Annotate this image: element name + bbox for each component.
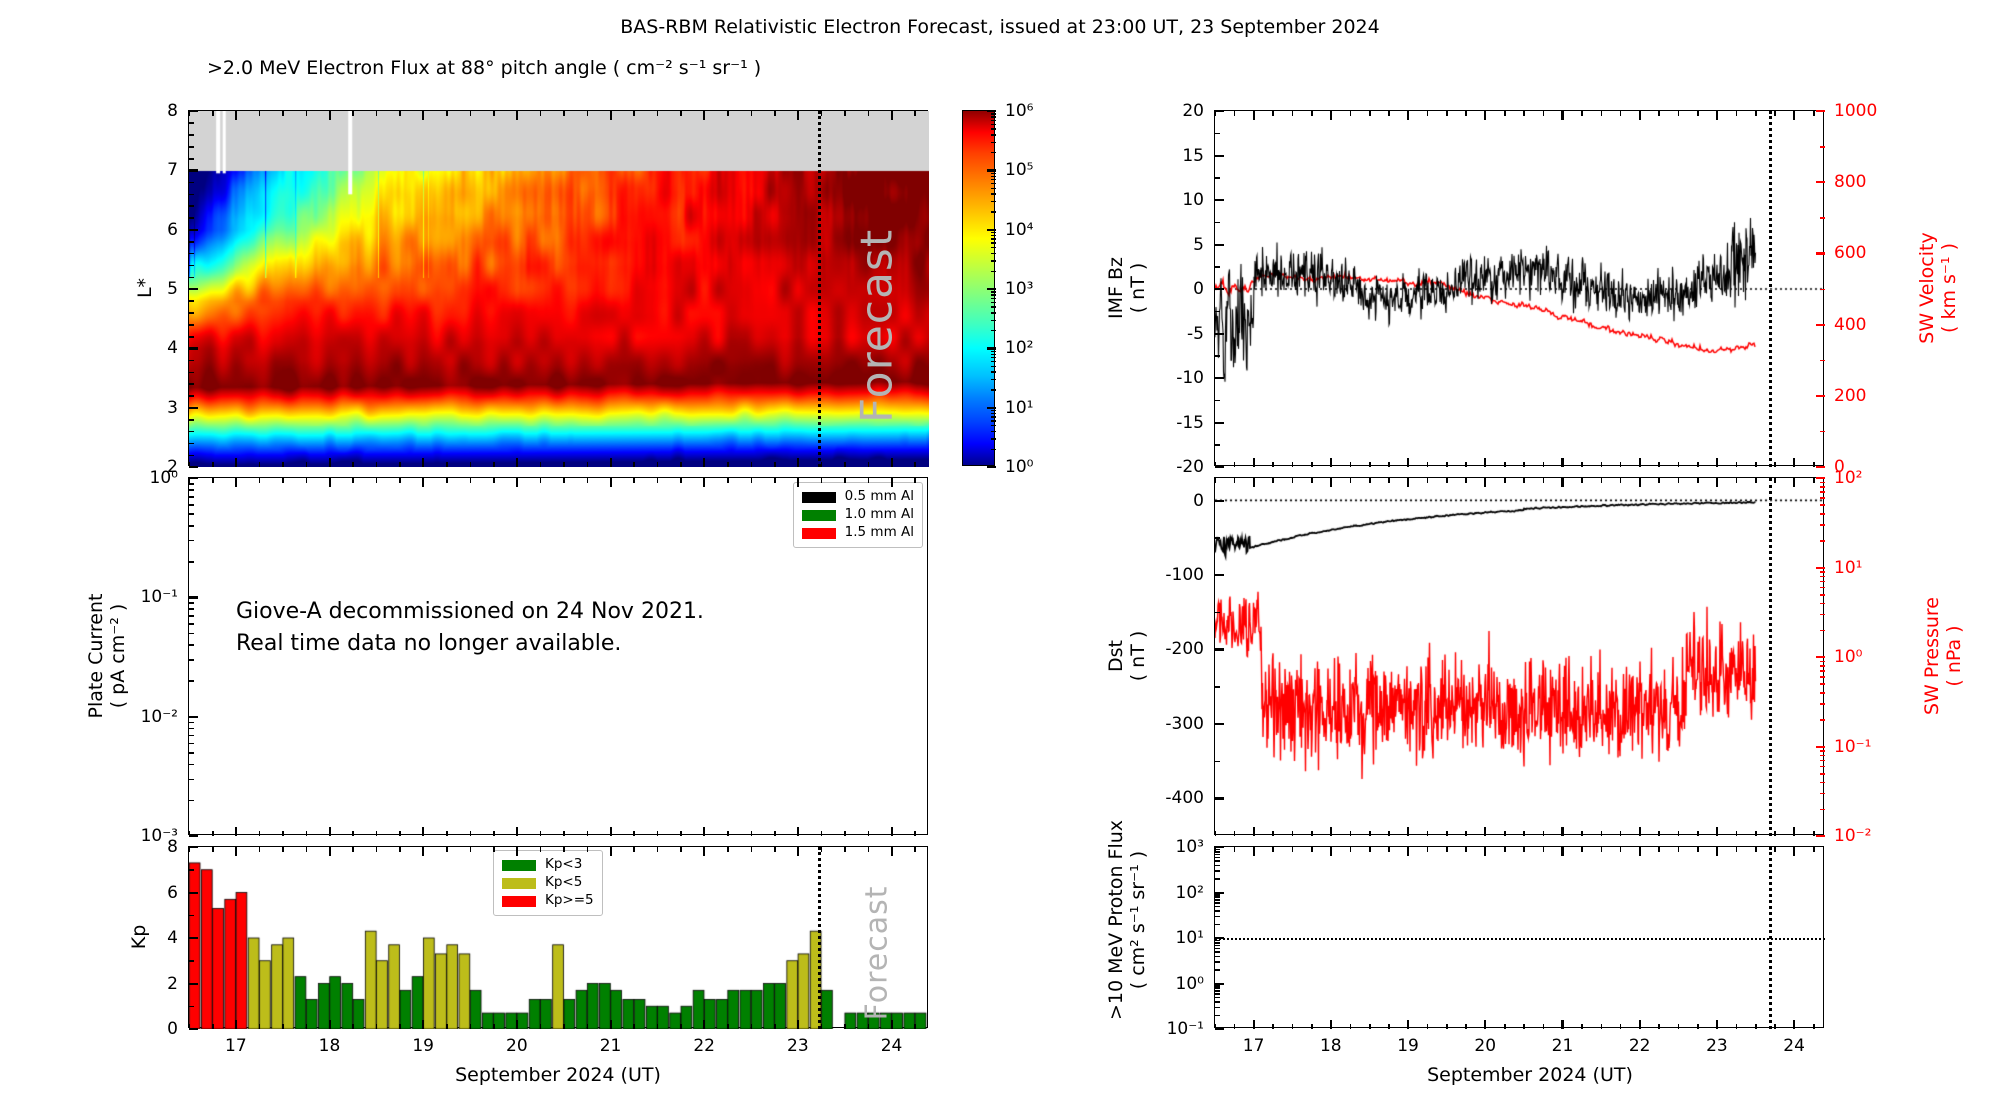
- axis-tick: [1620, 1024, 1622, 1029]
- axis-tick: [1253, 111, 1255, 116]
- axis-tick: [991, 371, 996, 372]
- axis-tick: [376, 478, 378, 483]
- axis-tick: [1813, 831, 1815, 836]
- axis-tick: [1215, 199, 1224, 201]
- axis-tick: [844, 111, 846, 116]
- axis-tick: [189, 831, 191, 836]
- dst-y-axis-label: Dst ( nT ): [1106, 631, 1150, 682]
- axis-tick: [1562, 831, 1564, 836]
- axis-tick: [189, 608, 194, 610]
- axis-tick: [1678, 111, 1680, 116]
- axis-tick: [189, 659, 194, 661]
- axis-tick: [991, 354, 996, 355]
- axis-tick: [493, 831, 495, 836]
- axis-tick: [991, 173, 996, 174]
- axis-tick: [797, 462, 799, 467]
- colorbar-tick-label: 10⁴: [1005, 220, 1033, 240]
- axis-tick: [1562, 462, 1564, 467]
- axis-tick-label: 600: [1834, 243, 1866, 263]
- kp-index-axes[interactable]: Forecast Kp<3 Kp<5 Kp>=5 024681718192021…: [188, 846, 928, 1028]
- axis-tick-label: 24: [1783, 1036, 1805, 1056]
- axis-tick: [1755, 831, 1757, 836]
- axis-tick: [306, 478, 308, 483]
- axis-tick-label: 400: [1834, 315, 1866, 335]
- axis-tick: [399, 847, 401, 852]
- axis-tick: [1311, 111, 1313, 116]
- axis-tick: [1215, 110, 1224, 112]
- electron-flux-axes[interactable]: Forecast 2345678: [188, 110, 928, 466]
- axis-tick: [914, 1024, 916, 1029]
- axis-tick: [1465, 478, 1467, 483]
- axis-tick: [1820, 692, 1825, 694]
- axis-tick: [1215, 940, 1220, 942]
- axis-tick: [189, 111, 191, 116]
- forecast-divider-dst: [1769, 478, 1772, 836]
- forecast-divider-kp: [818, 847, 821, 1029]
- axis-tick: [587, 847, 589, 852]
- axis-tick: [657, 831, 659, 836]
- legend-item: Kp<5: [502, 874, 594, 892]
- axis-tick: [259, 478, 261, 483]
- legend-label: 1.0 mm Al: [845, 508, 914, 522]
- axis-tick: [189, 288, 198, 290]
- axis-tick-label: 0: [1193, 491, 1204, 511]
- legend-item: Kp<3: [502, 856, 594, 874]
- axis-tick: [540, 462, 542, 467]
- axis-tick: [1820, 360, 1825, 362]
- axis-tick: [1215, 686, 1220, 688]
- axis-tick: [1215, 857, 1220, 859]
- axis-tick: [189, 983, 198, 985]
- axis-tick: [680, 462, 682, 467]
- axis-tick: [1736, 831, 1738, 836]
- axis-tick: [446, 478, 448, 483]
- axis-tick: [610, 831, 612, 836]
- axis-tick: [563, 847, 565, 852]
- axis-tick: [991, 193, 996, 194]
- axis-tick: [633, 462, 635, 467]
- axis-tick: [189, 496, 194, 498]
- axis-tick: [189, 110, 198, 112]
- axis-tick: [1820, 766, 1825, 768]
- axis-tick: [1678, 847, 1680, 852]
- axis-tick: [1215, 400, 1220, 402]
- axis-tick: [189, 633, 194, 635]
- proton-threshold-line: [1215, 938, 1825, 940]
- axis-tick: [1658, 111, 1660, 116]
- axis-tick: [189, 892, 198, 894]
- axis-tick: [680, 1024, 682, 1029]
- axis-tick: [1215, 244, 1224, 246]
- axis-tick: [470, 847, 472, 852]
- axis-tick: [991, 312, 996, 313]
- axis-tick: [1813, 1024, 1815, 1029]
- axis-tick: [1816, 324, 1825, 326]
- axis-tick: [751, 111, 753, 116]
- proton-flux-axes[interactable]: 10⁻¹10⁰10¹10²10³1718192021222324: [1214, 846, 1824, 1028]
- plate-current-y-axis-label: Plate Current ( pA cm⁻² ): [86, 594, 130, 719]
- axis-tick: [1820, 497, 1825, 499]
- axis-tick: [991, 120, 996, 121]
- axis-tick: [1816, 181, 1825, 183]
- axis-tick-label: 4: [167, 928, 178, 948]
- axis-tick: [914, 831, 916, 836]
- axis-tick: [1215, 942, 1220, 944]
- axis-tick: [1330, 462, 1332, 467]
- axis-tick: [1716, 831, 1718, 836]
- axis-tick: [1820, 504, 1825, 506]
- axis-tick: [470, 1024, 472, 1029]
- axis-tick: [844, 1024, 846, 1029]
- axis-tick: [727, 847, 729, 852]
- axis-tick: [1292, 111, 1294, 116]
- axis-tick: [1253, 462, 1255, 467]
- kp-legend[interactable]: Kp<3 Kp<5 Kp>=5: [493, 850, 603, 916]
- axis-tick: [1639, 847, 1641, 852]
- axis-tick: [1820, 614, 1825, 616]
- axis-tick: [991, 113, 996, 114]
- axis-tick: [1820, 661, 1825, 663]
- axis-tick: [1215, 894, 1220, 896]
- axis-tick-label: 20: [506, 1036, 528, 1056]
- axis-tick: [991, 438, 996, 439]
- axis-tick: [212, 1024, 214, 1029]
- axis-tick: [1523, 462, 1525, 467]
- axis-tick: [1601, 831, 1603, 836]
- axis-tick: [1820, 750, 1825, 752]
- axis-tick: [1716, 111, 1718, 116]
- axis-tick: [704, 462, 706, 467]
- colorbar-tick-label: 10⁵: [1005, 160, 1033, 180]
- axis-tick: [1820, 431, 1825, 433]
- plate-current-axes[interactable]: 0.5 mm Al 1.0 mm Al 1.5 mm Al Giove-A de…: [188, 477, 928, 835]
- axis-tick: [189, 504, 194, 506]
- axis-tick: [1215, 945, 1220, 947]
- axis-tick: [891, 831, 893, 836]
- axis-tick: [1215, 478, 1217, 483]
- axis-tick: [991, 183, 996, 184]
- flux-colorbar[interactable]: 10⁰10¹10²10³10⁴10⁵10⁶: [962, 110, 995, 466]
- axis-tick: [987, 347, 996, 349]
- flux-y-axis-label: L*: [135, 278, 157, 298]
- axis-tick-label: 10⁰: [150, 468, 178, 488]
- axis-tick: [868, 831, 870, 836]
- axis-tick: [1820, 524, 1825, 526]
- axis-tick: [189, 915, 194, 917]
- axis-tick: [1736, 478, 1738, 483]
- axis-tick: [991, 351, 996, 352]
- axis-tick: [1408, 462, 1410, 467]
- axis-tick: [1215, 899, 1220, 901]
- axis-tick: [914, 462, 916, 467]
- axis-tick: [991, 211, 996, 212]
- axis-tick: [189, 477, 198, 479]
- axis-tick: [587, 462, 589, 467]
- axis-tick: [1697, 831, 1699, 836]
- axis-tick: [235, 847, 237, 852]
- axis-tick: [1253, 478, 1255, 483]
- axis-tick: [991, 124, 996, 125]
- axis-tick: [991, 271, 996, 272]
- kp-y-axis-label: Kp: [129, 925, 151, 950]
- axis-tick: [1794, 831, 1796, 836]
- axis-tick-label: 21: [600, 1036, 622, 1056]
- axis-tick: [751, 462, 753, 467]
- axis-tick: [751, 1024, 753, 1029]
- axis-tick: [1601, 478, 1603, 483]
- axis-tick: [1485, 462, 1487, 467]
- legend-label: 1.5 mm Al: [845, 526, 914, 540]
- axis-tick: [1272, 847, 1274, 852]
- axis-tick: [189, 277, 194, 279]
- axis-tick: [235, 111, 237, 116]
- axis-tick: [1820, 571, 1825, 573]
- axis-tick: [1543, 478, 1545, 483]
- axis-tick: [1408, 1024, 1410, 1029]
- axis-tick: [1215, 537, 1220, 539]
- axis-tick: [633, 111, 635, 116]
- axis-tick: [704, 847, 706, 852]
- axis-tick: [189, 960, 194, 962]
- legend-label: Kp>=5: [545, 894, 594, 908]
- axis-tick: [1820, 603, 1825, 605]
- axis-tick: [189, 869, 194, 871]
- axis-tick: [1816, 466, 1825, 468]
- axis-tick: [189, 372, 194, 374]
- axis-tick-label: -100: [1165, 565, 1204, 585]
- axis-tick: [1562, 111, 1564, 116]
- axis-tick: [1215, 133, 1220, 135]
- axis-tick: [1330, 831, 1332, 836]
- axis-tick: [587, 478, 589, 483]
- axis-tick: [1215, 266, 1220, 268]
- axis-tick: [633, 831, 635, 836]
- axis-tick-label: -5: [1187, 324, 1204, 344]
- axis-tick: [1794, 478, 1796, 483]
- axis-tick: [1816, 110, 1825, 112]
- axis-tick: [1774, 1024, 1776, 1029]
- axis-tick: [516, 462, 518, 467]
- axis-tick-label: 1000: [1834, 101, 1877, 121]
- axis-tick: [329, 1024, 331, 1029]
- axis-tick: [1639, 462, 1641, 467]
- axis-tick: [844, 831, 846, 836]
- axis-tick-label: 21: [1552, 1036, 1574, 1056]
- imf-bz-y-axis-label: IMF Bz ( nT ): [1106, 257, 1150, 319]
- axis-tick-label: 10⁻¹: [1834, 737, 1871, 757]
- axis-tick: [306, 831, 308, 836]
- axis-tick: [633, 478, 635, 483]
- axis-tick: [493, 478, 495, 483]
- axis-tick: [1215, 987, 1220, 989]
- axis-tick: [189, 835, 198, 837]
- axis-tick: [774, 478, 776, 483]
- axis-tick: [1523, 111, 1525, 116]
- axis-tick: [868, 847, 870, 852]
- axis-tick: [1465, 847, 1467, 852]
- axis-tick: [1292, 831, 1294, 836]
- colorbar-tick-label: 10²: [1005, 338, 1033, 358]
- legend-swatch-1.0mm: [802, 510, 836, 521]
- axis-tick: [1272, 1024, 1274, 1029]
- forecast-divider-bz: [1769, 111, 1772, 467]
- axis-tick: [1215, 948, 1220, 950]
- axis-tick: [1234, 831, 1236, 836]
- axis-tick: [821, 478, 823, 483]
- axis-tick-label: 23: [1706, 1036, 1728, 1056]
- axis-tick: [1601, 1024, 1603, 1029]
- axis-tick: [1820, 703, 1825, 705]
- axis-tick: [1215, 854, 1220, 856]
- axis-tick: [1697, 111, 1699, 116]
- axis-tick: [1678, 831, 1680, 836]
- axis-tick: [470, 831, 472, 836]
- axis-tick: [189, 431, 194, 433]
- axis-tick: [1581, 462, 1583, 467]
- axis-tick-label: 800: [1834, 172, 1866, 192]
- axis-tick-label: 22: [1629, 1036, 1651, 1056]
- axis-tick: [868, 111, 870, 116]
- plate-current-message-line2: Real time data no longer available.: [236, 628, 621, 659]
- axis-tick: [1820, 594, 1825, 596]
- axis-tick-label: 23: [787, 1036, 809, 1056]
- axis-tick: [1215, 969, 1220, 971]
- axis-tick: [1388, 478, 1390, 483]
- axis-tick: [1311, 478, 1313, 483]
- axis-tick: [821, 847, 823, 852]
- legend-swatch-0.5mm: [802, 492, 836, 503]
- sw-velocity-y-axis-label: SW Velocity ( km s⁻¹ ): [1917, 232, 1961, 343]
- axis-tick: [891, 111, 893, 116]
- axis-tick: [891, 462, 893, 467]
- axis-tick-label: -15: [1176, 413, 1204, 433]
- axis-tick: [189, 347, 198, 349]
- axis-tick-label: 22: [693, 1036, 715, 1056]
- axis-tick: [189, 680, 194, 682]
- axis-tick: [1601, 111, 1603, 116]
- axis-tick: [1272, 462, 1274, 467]
- legend-label: 0.5 mm Al: [845, 490, 914, 504]
- axis-tick: [376, 831, 378, 836]
- axis-tick: [891, 847, 893, 852]
- axis-tick: [991, 247, 996, 248]
- axis-tick: [1485, 831, 1487, 836]
- axis-tick: [352, 478, 354, 483]
- axis-tick: [1253, 1024, 1255, 1029]
- axis-tick: [1697, 478, 1699, 483]
- axis-tick: [282, 111, 284, 116]
- axis-tick: [189, 489, 194, 491]
- axis-tick: [1330, 478, 1332, 483]
- dst-axes[interactable]: -400-300-200-100010⁻²10⁻¹10⁰10¹10²: [1214, 477, 1824, 835]
- axis-tick: [1234, 847, 1236, 852]
- axis-tick: [1350, 847, 1352, 852]
- axis-tick: [493, 847, 495, 852]
- axis-tick: [1215, 500, 1224, 502]
- axis-tick: [797, 831, 799, 836]
- axis-tick: [1215, 177, 1220, 179]
- axis-tick: [1820, 491, 1825, 493]
- axis-tick-label: -300: [1165, 714, 1204, 734]
- axis-tick: [1215, 878, 1220, 880]
- axis-tick: [1215, 860, 1220, 862]
- imf-bz-axes[interactable]: -20-15-10-50510152002004006008001000: [1214, 110, 1824, 466]
- axis-tick: [1562, 1024, 1564, 1029]
- axis-tick: [1620, 462, 1622, 467]
- axis-tick-label: 10⁻¹: [141, 587, 178, 607]
- axis-tick: [235, 831, 237, 836]
- axis-tick-label: 10²: [1834, 468, 1862, 488]
- axis-tick: [189, 182, 194, 184]
- axis-tick: [727, 478, 729, 483]
- axis-tick: [1215, 865, 1220, 867]
- axis-tick: [1330, 847, 1332, 852]
- axis-tick: [751, 831, 753, 836]
- axis-tick: [1253, 831, 1255, 836]
- axis-tick-label: 17: [225, 1036, 247, 1056]
- axis-tick: [1816, 252, 1825, 254]
- axis-tick: [282, 831, 284, 836]
- axis-tick: [1292, 847, 1294, 852]
- axis-tick: [189, 466, 198, 468]
- axis-tick: [991, 379, 996, 380]
- axis-tick-label: 15: [1182, 146, 1204, 166]
- axis-tick: [1678, 478, 1680, 483]
- plate-current-legend[interactable]: 0.5 mm Al 1.0 mm Al 1.5 mm Al: [793, 482, 923, 548]
- axis-tick: [991, 330, 996, 331]
- axis-tick: [189, 743, 194, 745]
- axis-tick: [1504, 462, 1506, 467]
- axis-tick: [1774, 111, 1776, 116]
- axis-tick: [1755, 847, 1757, 852]
- axis-tick: [1523, 831, 1525, 836]
- axis-tick: [1215, 377, 1224, 379]
- axis-tick-label: -20: [1176, 457, 1204, 477]
- axis-tick-label: 19: [412, 1036, 434, 1056]
- axis-tick: [259, 831, 261, 836]
- axis-tick: [797, 111, 799, 116]
- axis-tick: [821, 462, 823, 467]
- axis-tick: [1215, 990, 1220, 992]
- axis-tick: [1234, 478, 1236, 483]
- axis-tick: [987, 466, 996, 468]
- axis-tick: [1215, 1028, 1224, 1030]
- axis-tick: [189, 324, 194, 326]
- axis-tick: [1562, 478, 1564, 483]
- axis-tick: [680, 111, 682, 116]
- axis-tick: [1543, 847, 1545, 852]
- axis-tick: [797, 1024, 799, 1029]
- axis-tick: [1427, 831, 1429, 836]
- axis-tick: [352, 847, 354, 852]
- axis-tick: [259, 462, 261, 467]
- axis-tick: [1234, 462, 1236, 467]
- axis-tick: [991, 238, 996, 239]
- axis-tick: [1388, 111, 1390, 116]
- axis-tick: [563, 1024, 565, 1029]
- axis-tick: [1755, 478, 1757, 483]
- axis-tick: [470, 478, 472, 483]
- axis-tick: [352, 111, 354, 116]
- axis-tick: [587, 831, 589, 836]
- axis-tick-label: 10³: [1176, 837, 1204, 857]
- axis-tick: [868, 1024, 870, 1029]
- axis-tick-label: 10⁰: [1176, 974, 1204, 994]
- axis-tick: [399, 462, 401, 467]
- axis-tick-label: 18: [319, 1036, 341, 1056]
- axis-tick-label: 5: [167, 279, 178, 299]
- axis-tick: [189, 764, 194, 766]
